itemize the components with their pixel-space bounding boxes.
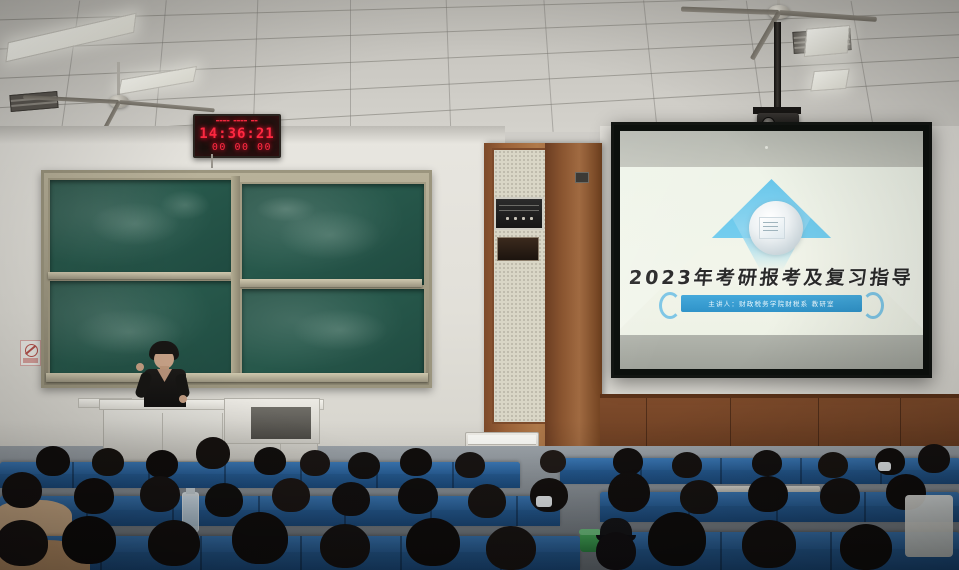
clock-header-line: ▬▬▬▬ ▬▬▬▬ ▬▬ bbox=[195, 117, 279, 126]
audience-head bbox=[0, 520, 48, 566]
podium-side-shelf bbox=[224, 398, 320, 444]
chalkboard-center-divider bbox=[231, 176, 240, 382]
chalkboard-rail-mid-right bbox=[240, 279, 422, 287]
audience-head bbox=[254, 447, 286, 475]
ceiling bbox=[0, 0, 959, 132]
projection-screen: 2023年考研报考及复习指导 主讲人：财政税务学院财税系 教研室 bbox=[611, 122, 932, 378]
audience-head bbox=[140, 476, 180, 512]
audience-head bbox=[62, 516, 116, 564]
slide-circular-photo bbox=[749, 201, 803, 255]
slide-banner-cap-left bbox=[659, 292, 681, 319]
audience-head bbox=[820, 478, 860, 514]
slide-subtitle-banner: 主讲人：财政税务学院财税系 教研室 bbox=[681, 295, 863, 312]
audience-head bbox=[613, 448, 643, 475]
chalkboard bbox=[41, 170, 432, 388]
audience-head bbox=[146, 450, 178, 478]
fluorescent-light-panel bbox=[810, 69, 849, 92]
screen-bottom-band bbox=[620, 335, 923, 369]
slide-title: 2023年考研报考及复习指导 bbox=[620, 263, 923, 290]
audience-head bbox=[648, 512, 706, 566]
air-vent bbox=[9, 91, 58, 112]
audience-head bbox=[272, 478, 310, 512]
audience-head bbox=[748, 476, 788, 512]
chalkboard-panel-bottom-right bbox=[240, 287, 426, 381]
presenter bbox=[133, 341, 197, 406]
slide-banner-cap-right bbox=[862, 292, 884, 319]
audience-head bbox=[400, 448, 432, 476]
av-control-box[interactable] bbox=[494, 197, 544, 230]
audience-head bbox=[672, 452, 702, 478]
audience-head bbox=[196, 437, 230, 469]
audience-head bbox=[205, 483, 243, 517]
audience-head bbox=[398, 478, 438, 514]
audience-head bbox=[540, 450, 566, 473]
fluorescent-light-panel bbox=[804, 25, 850, 57]
wood-column-right-face bbox=[545, 143, 602, 456]
audience-head bbox=[2, 472, 42, 508]
audience-head bbox=[406, 518, 460, 566]
chalkboard-rail-mid bbox=[48, 272, 231, 279]
tote-bag bbox=[905, 495, 953, 557]
audience-head bbox=[752, 450, 782, 476]
face-mask bbox=[878, 462, 891, 471]
wall-outlet-plate bbox=[575, 172, 589, 183]
clock-time: 14:36:21 bbox=[195, 126, 279, 142]
audience-head bbox=[608, 472, 650, 512]
slide-subtitle: 主讲人：财政税务学院财税系 教研室 bbox=[708, 298, 834, 308]
clock-timer: 00 00 00 bbox=[195, 142, 279, 154]
audience-head bbox=[348, 452, 380, 479]
screen-top-band bbox=[620, 131, 923, 167]
no-smoking-sign bbox=[20, 340, 41, 366]
audience-head bbox=[92, 448, 124, 476]
audience-head bbox=[468, 484, 506, 518]
audience-head bbox=[486, 526, 536, 570]
audience-head bbox=[680, 480, 718, 514]
audience-head bbox=[742, 520, 796, 568]
presentation-slide: 2023年考研报考及复习指导 主讲人：财政税务学院财税系 教研室 bbox=[620, 167, 923, 335]
projector-mount-pole bbox=[774, 22, 781, 110]
audience-head bbox=[320, 524, 370, 568]
led-clock-display: ▬▬▬▬ ▬▬▬▬ ▬▬ 14:36:21 00 00 00 bbox=[193, 114, 281, 158]
audience-head bbox=[455, 452, 485, 478]
chalkboard-panel-top-right bbox=[240, 182, 426, 287]
face-mask bbox=[536, 496, 552, 507]
audience-head bbox=[918, 444, 950, 473]
chalkboard-tray bbox=[46, 373, 428, 382]
acoustic-panel bbox=[492, 148, 548, 424]
audience-head bbox=[300, 450, 330, 476]
audience-head bbox=[596, 532, 636, 570]
audience-head bbox=[36, 446, 70, 476]
screen-surface: 2023年考研报考及复习指导 主讲人：财政税务学院财税系 教研室 bbox=[620, 131, 923, 369]
wall-speaker bbox=[497, 237, 539, 261]
audience-head bbox=[332, 482, 370, 516]
audience-head bbox=[148, 520, 200, 566]
audience-head bbox=[840, 524, 892, 570]
lecture-hall-photo: ▬▬▬▬ ▬▬▬▬ ▬▬ 14:36:21 00 00 00 bbox=[0, 0, 959, 570]
audience-head bbox=[74, 478, 114, 514]
chalkboard-panel-top-left bbox=[48, 178, 235, 279]
clock-mount-stem bbox=[211, 154, 213, 168]
audience-head bbox=[818, 452, 848, 478]
audience-head bbox=[232, 512, 288, 564]
